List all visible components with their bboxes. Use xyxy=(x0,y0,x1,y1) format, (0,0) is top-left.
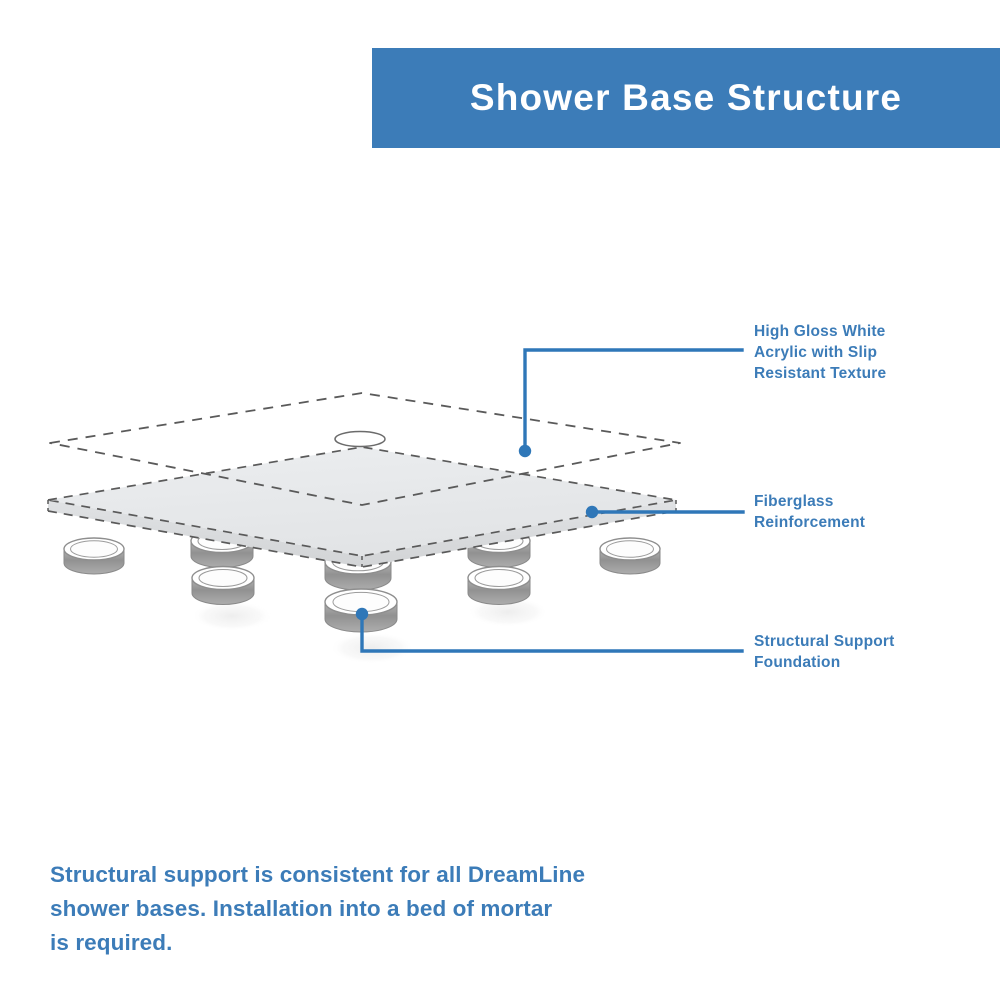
anchor-dot-support xyxy=(356,608,368,620)
support-ring xyxy=(192,567,254,605)
leader-line-support xyxy=(362,614,742,651)
leader-line-acrylic xyxy=(525,350,742,450)
fiberglass-slab-layer xyxy=(48,447,676,567)
support-ring xyxy=(600,538,660,574)
callout-label-fiberglass: Fiberglass Reinforcement xyxy=(754,491,994,533)
footer-caption: Structural support is consistent for all… xyxy=(50,858,690,961)
support-ring xyxy=(64,538,124,574)
anchor-dot-fiberglass xyxy=(586,506,598,518)
diagram-page: Shower Base Structure xyxy=(0,0,1000,1000)
support-ring xyxy=(468,567,530,605)
drain-hole-ellipse xyxy=(335,432,385,447)
callout-label-acrylic: High Gloss White Acrylic with Slip Resis… xyxy=(754,321,994,385)
callout-label-support: Structural Support Foundation xyxy=(754,631,994,673)
anchor-dot-acrylic xyxy=(519,445,531,457)
